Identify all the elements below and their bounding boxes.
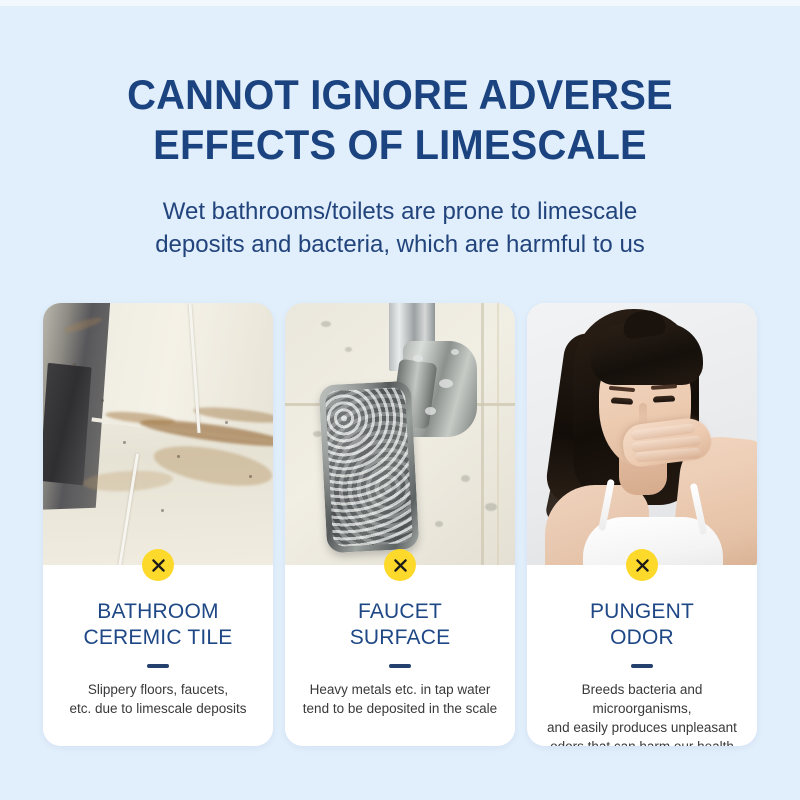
title-divider bbox=[147, 664, 169, 668]
card-body: BATHROOM CEREMIC TILE Slippery floors, f… bbox=[43, 565, 273, 746]
card-desc-line-1: Breeds bacteria and microorganisms, bbox=[539, 680, 745, 718]
card-photo-faucet bbox=[285, 303, 515, 565]
woman-pinching-nose-image bbox=[527, 303, 757, 565]
card-description: Slippery floors, faucets, etc. due to li… bbox=[43, 680, 273, 718]
subtitle-line-2: deposits and bacteria, which are harmful… bbox=[0, 228, 800, 261]
card-photo-woman bbox=[527, 303, 757, 565]
page-subtitle: Wet bathrooms/toilets are prone to limes… bbox=[0, 195, 800, 261]
title-divider bbox=[389, 664, 411, 668]
headline-line-1: CANNOT IGNORE ADVERSE bbox=[20, 70, 780, 120]
x-mark-icon bbox=[635, 558, 650, 573]
card-title: BATHROOM CEREMIC TILE bbox=[43, 599, 273, 651]
x-mark-badge bbox=[626, 549, 658, 581]
card-desc-line-3: odors that can harm our health bbox=[539, 737, 745, 746]
card-description: Breeds bacteria and microorganisms, and … bbox=[527, 680, 757, 746]
card-title-line-1: BATHROOM bbox=[51, 599, 265, 625]
card-desc-line-2: etc. due to limescale deposits bbox=[55, 699, 261, 718]
infographic-page: CANNOT IGNORE ADVERSE EFFECTS OF LIMESCA… bbox=[0, 0, 800, 800]
card-title-line-1: FAUCET bbox=[293, 599, 507, 625]
card-title: FAUCET SURFACE bbox=[285, 599, 515, 651]
card-bathroom-ceremic-tile[interactable]: BATHROOM CEREMIC TILE Slippery floors, f… bbox=[43, 303, 273, 746]
subtitle-line-1: Wet bathrooms/toilets are prone to limes… bbox=[0, 195, 800, 228]
dirty-tile-image bbox=[43, 303, 273, 565]
x-mark-icon bbox=[393, 558, 408, 573]
card-pungent-odor[interactable]: PUNGENT ODOR Breeds bacteria and microor… bbox=[527, 303, 757, 746]
title-divider bbox=[631, 664, 653, 668]
x-mark-badge bbox=[142, 549, 174, 581]
x-mark-badge bbox=[384, 549, 416, 581]
card-desc-line-2: and easily produces unpleasant bbox=[539, 718, 745, 737]
card-desc-line-1: Slippery floors, faucets, bbox=[55, 680, 261, 699]
card-faucet-surface[interactable]: FAUCET SURFACE Heavy metals etc. in tap … bbox=[285, 303, 515, 746]
card-desc-line-2: tend to be deposited in the scale bbox=[297, 699, 503, 718]
card-title-line-2: CEREMIC TILE bbox=[51, 625, 265, 651]
top-edge-strip bbox=[0, 0, 800, 6]
card-body: FAUCET SURFACE Heavy metals etc. in tap … bbox=[285, 565, 515, 746]
limescale-faucet-image bbox=[285, 303, 515, 565]
x-mark-icon bbox=[151, 558, 166, 573]
card-desc-line-1: Heavy metals etc. in tap water bbox=[297, 680, 503, 699]
card-title-line-2: ODOR bbox=[535, 625, 749, 651]
card-description: Heavy metals etc. in tap water tend to b… bbox=[285, 680, 515, 718]
card-title: PUNGENT ODOR bbox=[527, 599, 757, 651]
card-photo-bathroom-tile bbox=[43, 303, 273, 565]
card-title-line-1: PUNGENT bbox=[535, 599, 749, 625]
card-title-line-2: SURFACE bbox=[293, 625, 507, 651]
cards-row: BATHROOM CEREMIC TILE Slippery floors, f… bbox=[43, 303, 757, 746]
headline-line-2: EFFECTS OF LIMESCALE bbox=[20, 120, 780, 170]
card-body: PUNGENT ODOR Breeds bacteria and microor… bbox=[527, 565, 757, 746]
page-title: CANNOT IGNORE ADVERSE EFFECTS OF LIMESCA… bbox=[20, 70, 780, 170]
